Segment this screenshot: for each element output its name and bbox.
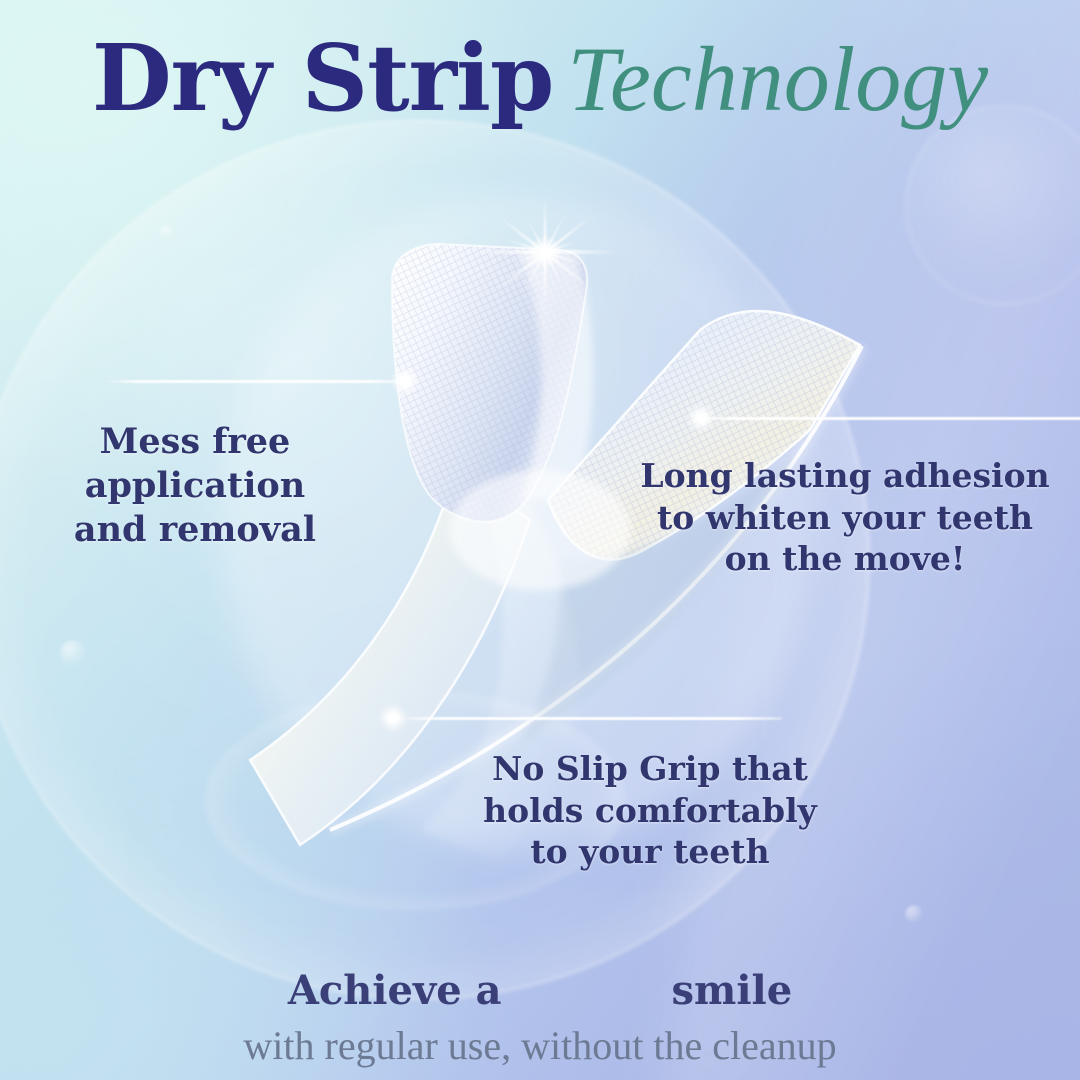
leader-line-no-slip-grip [392,717,782,720]
tagline: Achieve asmile with regular use, without… [0,967,1080,1072]
callout-line: and removal [50,508,340,552]
sparkle-ray [505,238,586,266]
tagline-trail: smile [671,967,792,1014]
callout-line: Long lasting adhesion [610,455,1080,497]
sparkle-ray [544,197,547,307]
callout-dot-adhesion [686,403,716,433]
callout-dot-mess-free [390,366,420,396]
callout-line: application [50,464,340,508]
sparkle-ray [497,214,593,290]
sparkle-ray [528,221,562,284]
callout-line: Mess free [50,420,340,464]
sparkle-ray [470,250,620,254]
title-accent-text: Technology [567,28,988,130]
leader-line-mess-free [103,380,405,383]
soft-bubble-tiny [905,905,923,923]
callout-line: to your teeth [460,831,840,873]
sparkle-ray [524,214,565,289]
callout-mess-free: Mess free application and removal [50,420,340,552]
tagline-primary: Achieve asmile [0,967,1080,1016]
sparkle-ray [511,240,578,263]
callout-dot-no-slip-grip [378,703,408,733]
sparkle-core [528,235,562,269]
tagline-subline: with regular use, without the cleanup [0,1020,1080,1072]
callout-line: No Slip Grip that [460,748,840,790]
leader-line-adhesion [700,417,1080,420]
poster-canvas: Dry StripTechnology [0,0,1080,1080]
title-main-text: Dry Strip [92,24,553,132]
tagline-lead: Achieve a [288,967,502,1014]
callout-no-slip-grip: No Slip Grip that holds comfortably to y… [460,748,840,873]
page-title: Dry StripTechnology [0,32,1080,125]
soft-bubble-topright [905,105,1080,305]
callout-line: holds comfortably [460,790,840,832]
callout-long-lasting-adhesion: Long lasting adhesion to whiten your tee… [610,455,1080,580]
callout-line: on the move! [610,538,1080,580]
callout-line: to whiten your teeth [610,497,1080,539]
soft-bubble-tiny [160,225,174,239]
sparkle-ray [497,214,593,290]
soft-bubble-tiny [60,640,86,666]
